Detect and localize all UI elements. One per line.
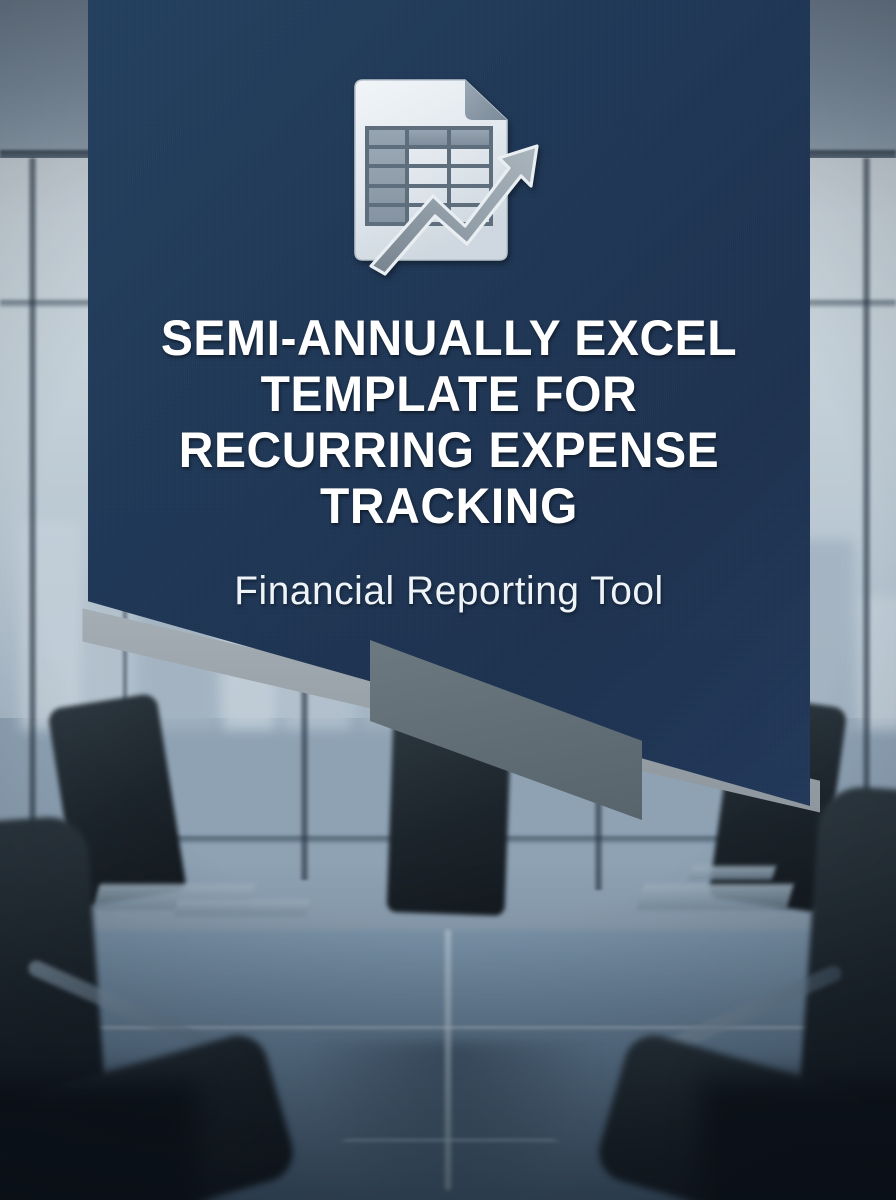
page-title: SEMI-ANNUALLY EXCEL TEMPLATE FOR RECURRI…: [126, 310, 771, 534]
page-subtitle: Financial Reporting Tool: [123, 568, 775, 614]
cover-page: SEMI-ANNUALLY EXCEL TEMPLATE FOR RECURRI…: [0, 0, 896, 1200]
panel-content: SEMI-ANNUALLY EXCEL TEMPLATE FOR RECURRI…: [88, 0, 810, 806]
spreadsheet-growth-chart-icon: [341, 76, 557, 276]
